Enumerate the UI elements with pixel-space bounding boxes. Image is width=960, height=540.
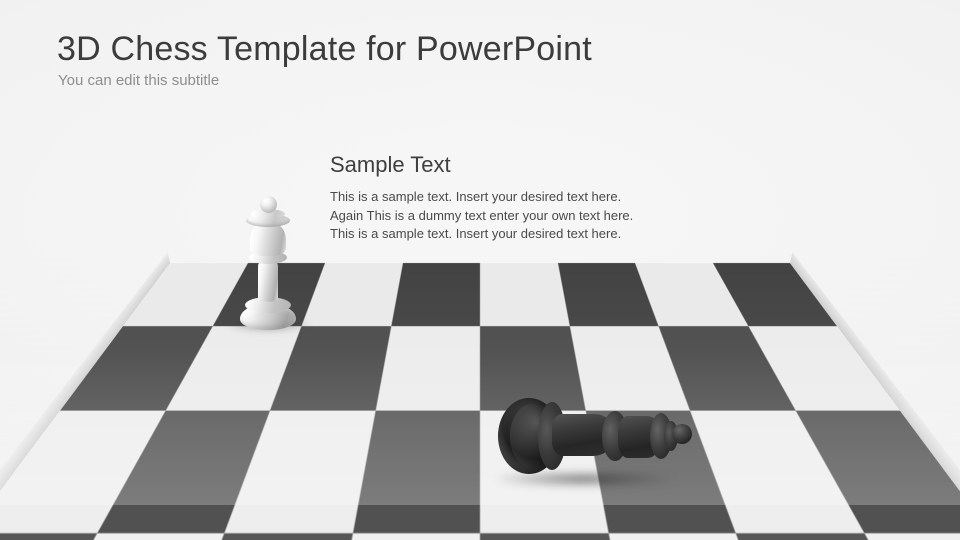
white-piece-stem	[258, 260, 278, 302]
black-piece-finial-ball	[672, 424, 692, 444]
board-right-edge	[0, 0, 792, 263]
chessboard	[0, 0, 960, 540]
board-square	[863, 532, 960, 540]
board-grid	[0, 0, 960, 263]
white-queen-piece	[232, 196, 304, 330]
board-square	[0, 532, 97, 540]
board-square	[480, 263, 569, 326]
black-king-piece-fallen	[494, 390, 694, 486]
board-square	[391, 263, 480, 326]
board-square	[375, 326, 480, 411]
slide-canvas: 3D Chess Template for PowerPoint You can…	[0, 0, 960, 540]
board-slab	[0, 0, 960, 263]
white-piece-finial-ball	[260, 196, 277, 213]
white-piece-body	[250, 222, 286, 256]
board-square	[352, 411, 480, 533]
